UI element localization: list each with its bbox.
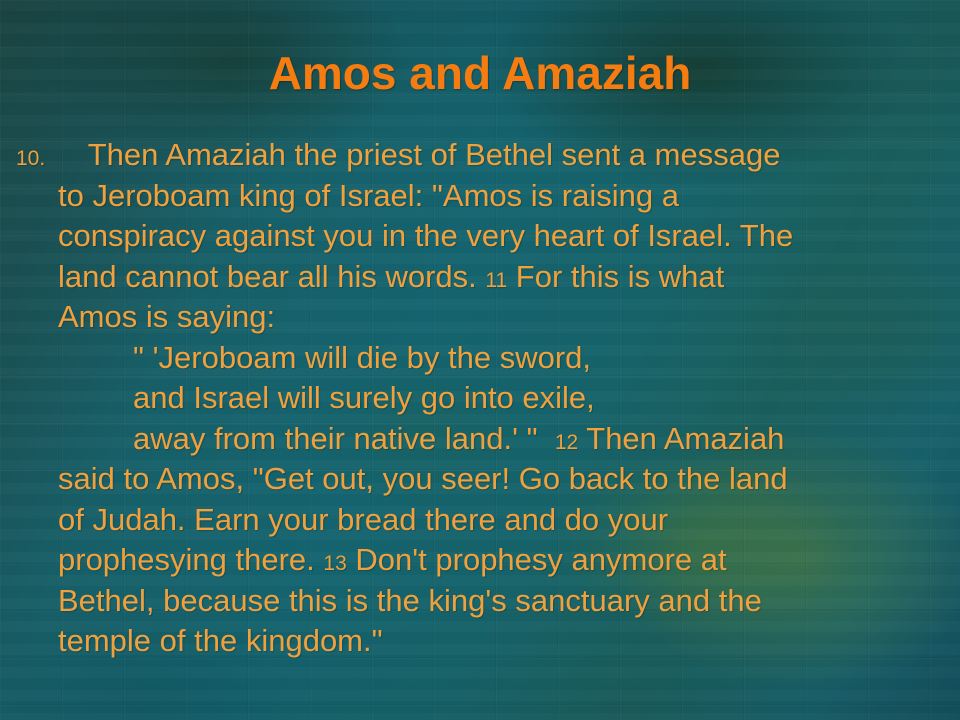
- body-line: conspiracy against you in the very heart…: [16, 216, 960, 257]
- body-text-run: temple of the kingdom.": [58, 623, 383, 658]
- body-line: Amos is saying:: [16, 297, 960, 338]
- body-line: prophesying there. 13 Don't prophesy any…: [16, 540, 960, 581]
- body-text-run: and Israel will surely go into exile,: [133, 380, 595, 415]
- verse-number: 13: [323, 552, 346, 575]
- verse-number: 12: [555, 431, 578, 454]
- body-text-run: prophesying there.: [58, 542, 323, 577]
- body-text-run: " 'Jeroboam will die by the sword,: [133, 340, 591, 375]
- body-line: temple of the kingdom.": [16, 621, 960, 662]
- verse-number: 10.: [16, 147, 45, 170]
- body-text-run: land cannot bear all his words.: [58, 259, 485, 294]
- body-line: away from their native land.' " 12 Then …: [16, 419, 960, 460]
- body-text-run: to Jeroboam king of Israel: "Amos is rai…: [58, 178, 679, 213]
- slide-content: Amos and Amaziah 10. Then Amaziah the pr…: [0, 0, 960, 720]
- slide-title: Amos and Amaziah: [0, 47, 960, 99]
- body-text-run: Amos is saying:: [58, 299, 275, 334]
- body-text-run: For this is what: [507, 259, 724, 294]
- body-line: to Jeroboam king of Israel: "Amos is rai…: [16, 176, 960, 217]
- presentation-slide: Amos and Amaziah 10. Then Amaziah the pr…: [0, 0, 960, 720]
- body-text-run: Then Amaziah the priest of Bethel sent a…: [45, 137, 780, 172]
- body-line: 10. Then Amaziah the priest of Bethel se…: [16, 135, 960, 176]
- slide-body-text: 10. Then Amaziah the priest of Bethel se…: [16, 135, 960, 662]
- body-text-run: Don't prophesy anymore at: [347, 542, 727, 577]
- body-text-run: said to Amos, "Get out, you seer! Go bac…: [58, 461, 788, 496]
- body-line: said to Amos, "Get out, you seer! Go bac…: [16, 459, 960, 500]
- body-line: of Judah. Earn your bread there and do y…: [16, 500, 960, 541]
- body-text-run: conspiracy against you in the very heart…: [58, 218, 793, 253]
- body-text-run: Bethel, because this is the king's sanct…: [58, 583, 762, 618]
- verse-number: 11: [485, 269, 507, 292]
- body-line: " 'Jeroboam will die by the sword,: [16, 338, 960, 379]
- body-line: land cannot bear all his words. 11 For t…: [16, 257, 960, 298]
- body-text-run: away from their native land.' ": [133, 421, 555, 456]
- body-text-run: of Judah. Earn your bread there and do y…: [58, 502, 668, 537]
- body-line: Bethel, because this is the king's sanct…: [16, 581, 960, 622]
- body-text-run: Then Amaziah: [578, 421, 784, 456]
- body-line: and Israel will surely go into exile,: [16, 378, 960, 419]
